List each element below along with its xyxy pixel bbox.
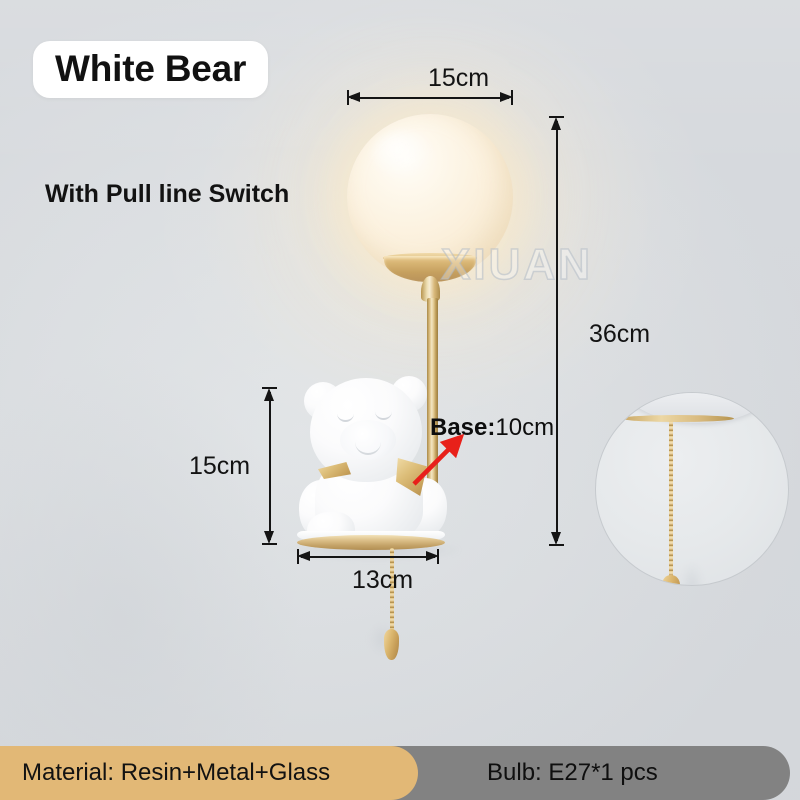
dimension-base-width-cap-left	[297, 549, 299, 564]
inset-bead-shadow	[680, 563, 704, 586]
dimension-base-callout-prefix: Base:	[430, 414, 495, 441]
dimension-bear-height-label: 15cm	[189, 452, 250, 481]
product-image-canvas: XIUAN White Bear With Pull line Switch 1…	[0, 0, 800, 800]
product-subtitle: With Pull line Switch	[45, 180, 289, 209]
bear-gold-base-plate	[297, 535, 445, 550]
dimension-bear-height-line	[269, 392, 271, 540]
dimension-base-width-label: 13cm	[352, 566, 413, 595]
dimension-total-height-cap-top	[549, 116, 564, 118]
inset-pull-chain-bead	[662, 575, 680, 586]
dimension-base-width-cap-right	[437, 549, 439, 564]
product-title: White Bear	[55, 48, 246, 89]
dimension-total-height-cap-bottom	[549, 544, 564, 546]
material-spec-label: Material: Resin+Metal+Glass	[22, 759, 330, 787]
dimension-base-callout-label: Base:10cm	[430, 414, 554, 442]
dimension-globe-width-cap-right	[511, 90, 513, 105]
product-title-badge: White Bear	[33, 41, 268, 98]
pull-switch-detail-inset	[595, 392, 789, 586]
dimension-bear-height-cap-bottom	[262, 543, 277, 545]
dimension-base-callout-value: 10cm	[495, 414, 554, 441]
dimension-bear-height-arrow-top	[264, 388, 274, 401]
dimension-base-width-line	[301, 556, 435, 558]
inset-pull-chain	[669, 421, 673, 584]
dimension-total-height-line	[556, 121, 558, 541]
dimension-total-height-label: 36cm	[589, 320, 650, 349]
dimension-globe-width-cap-left	[347, 90, 349, 105]
pull-chain-bead	[384, 629, 399, 660]
dimension-globe-width-label: 15cm	[428, 64, 489, 93]
material-spec-bar: Material: Resin+Metal+Glass	[0, 746, 418, 800]
dimension-total-height-arrow-top	[551, 117, 561, 130]
dimension-globe-width-line	[351, 97, 509, 99]
bulb-spec-label: Bulb: E27*1 pcs	[487, 759, 658, 787]
dimension-bear-height-cap-top	[262, 387, 277, 389]
inset-gold-plate-edge	[622, 415, 734, 422]
